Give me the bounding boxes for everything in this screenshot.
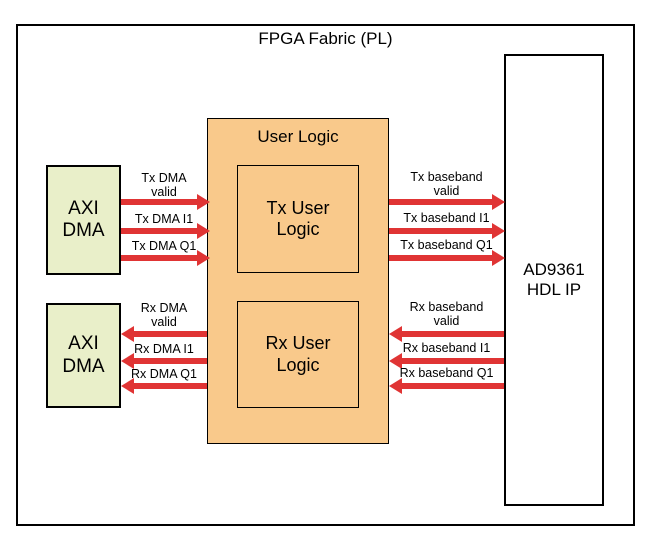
ad9361-hdl-ip-label: AD9361 HDL IP <box>523 260 584 300</box>
rx-user-logic-label: Rx User Logic <box>265 333 330 375</box>
rx-dma-valid-arrowhead-icon <box>121 326 134 342</box>
tx-baseband-i1-label: Tx baseband I1 <box>389 211 504 225</box>
rx-baseband-q1-arrowhead-icon <box>389 378 402 394</box>
tx-baseband-i1-arrowhead-icon <box>492 223 505 239</box>
tx-user-logic-block[interactable]: Tx User Logic <box>237 165 359 273</box>
tx-dma-i1-arrowhead-icon <box>197 223 210 239</box>
rx-baseband-i1-arrow <box>401 358 504 364</box>
diagram-canvas: FPGA Fabric (PL) AXI DMA AXI DMA User Lo… <box>0 0 651 545</box>
rx-dma-q1-arrow <box>133 383 207 389</box>
tx-dma-valid-label: Tx DMA valid <box>121 171 207 199</box>
axi-dma-tx-label: AXI DMA <box>62 198 104 243</box>
rx-user-logic-block[interactable]: Rx User Logic <box>237 301 359 408</box>
rx-baseband-valid-arrow <box>401 331 504 337</box>
axi-dma-tx-block[interactable]: AXI DMA <box>46 165 121 275</box>
rx-dma-valid-label: Rx DMA valid <box>121 301 207 329</box>
tx-baseband-q1-arrowhead-icon <box>492 250 505 266</box>
rx-dma-valid-arrow <box>133 331 207 337</box>
tx-baseband-valid-label: Tx baseband valid <box>389 170 504 198</box>
ad9361-hdl-ip-block[interactable]: AD9361 HDL IP <box>504 54 604 506</box>
tx-dma-valid-arrow <box>121 199 199 205</box>
axi-dma-rx-label: AXI DMA <box>62 333 104 378</box>
rx-baseband-q1-label: Rx baseband Q1 <box>389 366 504 380</box>
rx-baseband-valid-label: Rx baseband valid <box>389 300 504 328</box>
tx-dma-i1-label: Tx DMA I1 <box>121 212 207 226</box>
rx-baseband-i1-label: Rx baseband I1 <box>389 341 504 355</box>
rx-dma-i1-arrow <box>133 358 207 364</box>
rx-baseband-valid-arrowhead-icon <box>389 326 402 342</box>
tx-dma-q1-label: Tx DMA Q1 <box>121 239 207 253</box>
fpga-fabric-title: FPGA Fabric (PL) <box>16 28 635 50</box>
tx-baseband-valid-arrow <box>389 199 494 205</box>
tx-dma-q1-arrow <box>121 255 199 261</box>
rx-dma-q1-arrowhead-icon <box>121 378 134 394</box>
tx-dma-q1-arrowhead-icon <box>197 250 210 266</box>
tx-dma-valid-arrowhead-icon <box>197 194 210 210</box>
tx-baseband-q1-label: Tx baseband Q1 <box>389 238 504 252</box>
tx-baseband-valid-arrowhead-icon <box>492 194 505 210</box>
tx-user-logic-label: Tx User Logic <box>267 198 330 240</box>
user-logic-label: User Logic <box>207 126 389 148</box>
rx-baseband-q1-arrow <box>401 383 504 389</box>
tx-baseband-q1-arrow <box>389 255 494 261</box>
tx-baseband-i1-arrow <box>389 228 494 234</box>
tx-dma-i1-arrow <box>121 228 199 234</box>
axi-dma-rx-block[interactable]: AXI DMA <box>46 303 121 408</box>
